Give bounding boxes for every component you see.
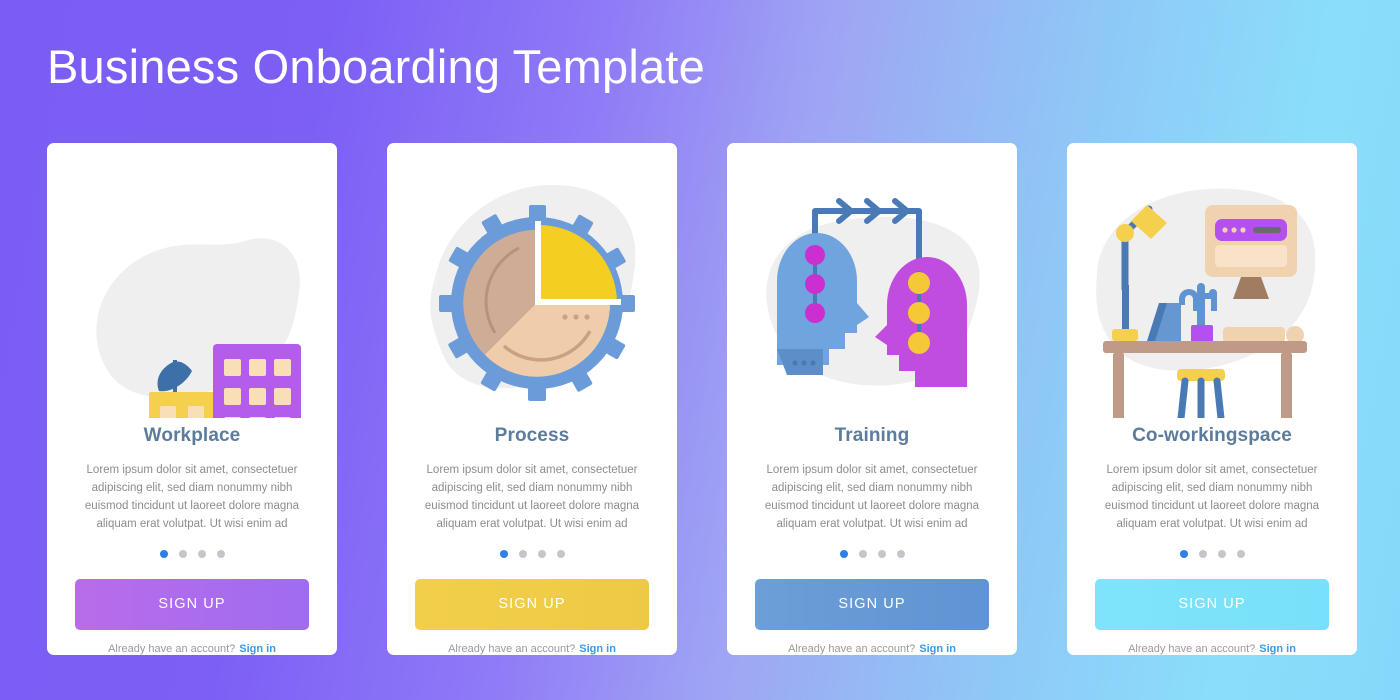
pagination-dot-1[interactable]: [1180, 550, 1188, 558]
pagination-dot-3[interactable]: [1218, 550, 1226, 558]
onboarding-card-process[interactable]: Process Lorem ipsum dolor sit amet, cons…: [387, 143, 677, 655]
card-description: Lorem ipsum dolor sit amet, consectetuer…: [1096, 462, 1328, 533]
pagination-dot-2[interactable]: [1199, 550, 1207, 558]
page-title: Business Onboarding Template: [47, 41, 705, 93]
pagination-dot-4[interactable]: [897, 550, 905, 558]
signup-button[interactable]: SIGN UP: [755, 579, 989, 630]
card-description: Lorem ipsum dolor sit amet, consectetuer…: [76, 462, 308, 533]
workplace-illustration: [47, 143, 337, 415]
card-title: Process: [495, 425, 570, 447]
pagination-dot-3[interactable]: [878, 550, 886, 558]
signup-button[interactable]: SIGN UP: [415, 579, 649, 630]
signin-link[interactable]: Sign in: [579, 643, 616, 655]
card-description: Lorem ipsum dolor sit amet, consectetuer…: [756, 462, 988, 533]
training-illustration: [727, 143, 1017, 415]
signin-prompt: Already have an account?: [448, 643, 575, 655]
card-title: Co-workingspace: [1132, 425, 1292, 447]
pagination-dots[interactable]: [160, 550, 225, 558]
signin-link[interactable]: Sign in: [239, 643, 276, 655]
onboarding-cards-container: Workplace Lorem ipsum dolor sit amet, co…: [47, 143, 1357, 655]
pagination-dot-3[interactable]: [538, 550, 546, 558]
onboarding-card-workplace[interactable]: Workplace Lorem ipsum dolor sit amet, co…: [47, 143, 337, 655]
onboarding-template-page: Business Onboarding Template: [0, 0, 1400, 700]
process-illustration: [387, 143, 677, 415]
signin-prompt: Already have an account?: [788, 643, 915, 655]
signin-row: Already have an account? Sign in: [1128, 643, 1296, 655]
signup-button[interactable]: SIGN UP: [1095, 579, 1329, 630]
co-workingspace-illustration: [1067, 143, 1357, 415]
signin-prompt: Already have an account?: [108, 643, 235, 655]
signin-row: Already have an account? Sign in: [788, 643, 956, 655]
pagination-dot-3[interactable]: [198, 550, 206, 558]
pagination-dot-1[interactable]: [840, 550, 848, 558]
onboarding-card-training[interactable]: Training Lorem ipsum dolor sit amet, con…: [727, 143, 1017, 655]
signin-link[interactable]: Sign in: [1259, 643, 1296, 655]
pagination-dot-1[interactable]: [500, 550, 508, 558]
pagination-dots[interactable]: [840, 550, 905, 558]
pagination-dot-4[interactable]: [557, 550, 565, 558]
pagination-dot-1[interactable]: [160, 550, 168, 558]
onboarding-card-co-workingspace[interactable]: Co-workingspace Lorem ipsum dolor sit am…: [1067, 143, 1357, 655]
signin-row: Already have an account? Sign in: [108, 643, 276, 655]
signin-row: Already have an account? Sign in: [448, 643, 616, 655]
card-description: Lorem ipsum dolor sit amet, consectetuer…: [416, 462, 648, 533]
signin-link[interactable]: Sign in: [919, 643, 956, 655]
pagination-dot-2[interactable]: [859, 550, 867, 558]
pagination-dot-2[interactable]: [179, 550, 187, 558]
pagination-dot-4[interactable]: [1237, 550, 1245, 558]
signup-button[interactable]: SIGN UP: [75, 579, 309, 630]
card-title: Training: [835, 425, 910, 447]
pagination-dot-2[interactable]: [519, 550, 527, 558]
pagination-dots[interactable]: [500, 550, 565, 558]
pagination-dot-4[interactable]: [217, 550, 225, 558]
pagination-dots[interactable]: [1180, 550, 1245, 558]
card-title: Workplace: [144, 425, 241, 447]
signin-prompt: Already have an account?: [1128, 643, 1255, 655]
